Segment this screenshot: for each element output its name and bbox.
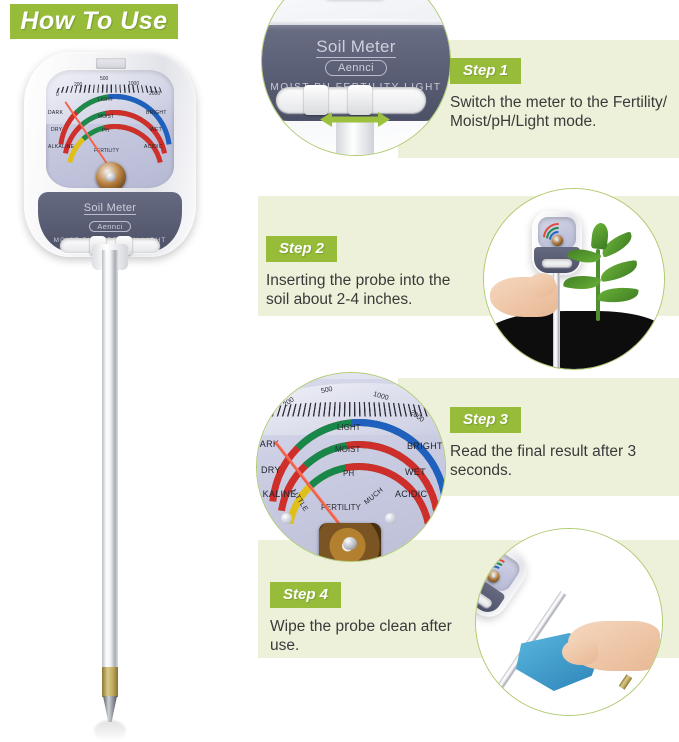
meter-label-panel: Soil Meter Aennci MOIST PH FERTILITY LIG… [38,192,182,252]
mode-slider-switch-closeup[interactable] [276,87,426,113]
probe-brass-band [102,667,118,697]
meter-dial-face: 0 200 500 1000 2000 LIGHT MOIST PH DARK … [46,70,174,188]
product-hero-image: 0 200 500 1000 2000 LIGHT MOIST PH DARK … [24,52,196,672]
page-title: How To Use [20,7,167,36]
dial-coil-screw-closeup [343,537,358,551]
dial-adjust-screw-right[interactable] [385,513,396,524]
step-1-block: Step 1 Switch the meter to the Fertility… [450,58,675,131]
product-reflection [94,720,126,742]
light-tick-200: 200 [74,82,82,88]
slider-direction-arrow-icon [320,111,390,128]
step-2-text: Inserting the probe into the soil about … [266,271,476,309]
light-right-end-closeup: BRIGHT [407,441,443,451]
step-2-block: Step 2 Inserting the probe into the soil… [266,236,476,309]
moist-scale-name-closeup: MOIST [335,445,360,454]
step-2-badge: Step 2 [266,236,337,262]
dial-coil-screw-small [556,239,560,243]
step-1-photo: Soil Meter Aennci MOIST PH FERTILITY LIG… [261,0,451,156]
moist-right-end: WET [150,127,162,133]
moist-left-end-closeup: DRY [261,465,281,475]
dial-coil-screw-tilted [491,574,497,580]
dial-tick-band [56,84,163,92]
light-right-end: BRIGHT [146,110,167,116]
hand-thumb [528,273,556,297]
ph-scale-name-closeup: PH [343,469,354,478]
soil-bed [484,311,664,369]
dial-coil-mechanism-closeup [319,523,381,562]
light-tick-500: 500 [100,76,108,82]
step-1-badge: Step 1 [450,58,521,84]
step-4-text: Wipe the probe clean after use. [270,617,485,655]
light-scale-name-closeup: LIGHT [337,423,361,432]
step-4-badge: Step 4 [270,582,341,608]
moist-left-end: DRY [51,127,62,133]
dial-coil-small [552,235,563,246]
probe-rod [102,250,118,690]
ph-right-end-closeup: ACIDIC [395,489,427,499]
probe-tip [103,696,117,722]
ph-right-end: ACIDIC [144,144,163,150]
light-scale-name: LIGHT [98,97,113,103]
light-left-end: DARK [48,110,63,116]
dial-coil-screw [106,172,117,183]
moist-scale-name: MOIST [98,114,114,120]
light-tick-1000: 1000 [128,81,139,87]
page-title-banner: How To Use [10,4,178,39]
product-name-label-closeup: Soil Meter [316,37,396,58]
ph-scale-name: PH [102,128,109,134]
step-3-photo: 0 200 500 1000 2000 LIGHT MOIST PH DARK … [256,372,446,562]
step-2-photo [483,188,665,370]
step-3-block: Step 3 Read the final result after 3 sec… [450,407,679,480]
dial-coil-mechanism [96,162,126,188]
meter-dial-face-small [538,217,576,249]
light-tick-0: 0 [56,92,59,98]
step-4-block: Step 4 Wipe the probe clean after use. [270,582,485,655]
brand-logo-label: Aennci [89,221,130,232]
mode-slider-small[interactable] [542,259,572,267]
product-name-label: Soil Meter [84,202,137,215]
light-tick-2000: 2000 [149,91,160,97]
step-4-photo [475,528,663,716]
moist-right-end-closeup: WET [405,467,426,477]
meter-label-panel-closeup: Soil Meter Aennci MOIST PH FERTILITY LIG… [261,25,451,121]
mode-slider-tilted[interactable] [475,585,493,609]
step-1-text: Switch the meter to the Fertility/ Moist… [450,93,675,131]
ph-left-end: ALKALINE [48,144,74,150]
brand-logo-label-closeup: Aennci [325,60,387,76]
step-3-text: Read the final result after 3 seconds. [450,442,679,480]
meter-top-label [96,58,126,69]
dial-adjust-screw-left[interactable] [281,513,292,524]
step-3-badge: Step 3 [450,407,521,433]
hand-fingers [562,639,598,665]
